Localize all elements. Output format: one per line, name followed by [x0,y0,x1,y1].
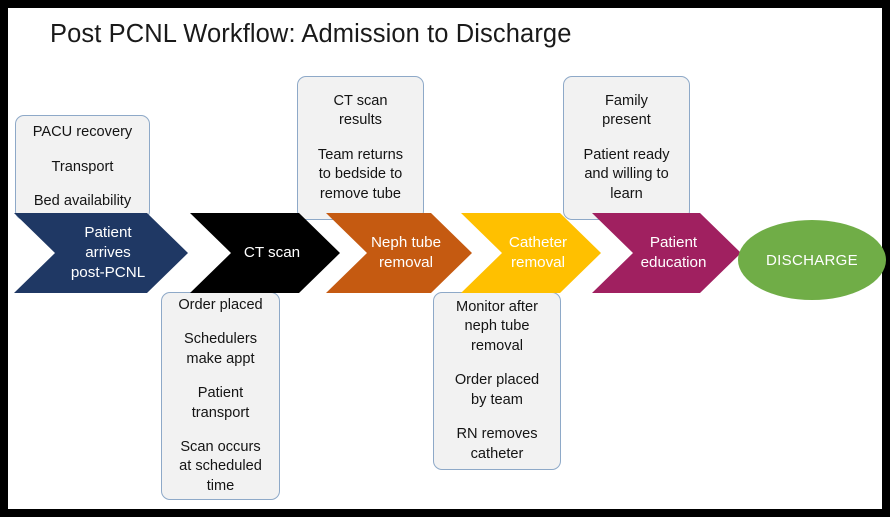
process-step-patient-arrives[interactable]: Patient arrives post-PCNL [14,213,188,293]
process-step-neph-tube-removal[interactable]: Neph tube removal [326,213,472,293]
callout-item: RN removes catheter [452,423,541,466]
diagram-frame: Post PCNL Workflow: Admission to Dischar… [0,0,890,517]
callout-item: Scan occurs at scheduled time [175,436,266,498]
callout-item: Patient transport [188,382,254,425]
callout-item: Order placed by team [451,369,543,412]
callout-item: Monitor after neph tube removal [452,296,542,358]
page-title: Post PCNL Workflow: Admission to Dischar… [50,20,571,49]
callout-box-step-1: PACU recovery Transport Bed availability [15,115,150,220]
callout-item: Team returns to bedside to remove tube [314,144,407,206]
callout-box-step-2: Order placed Schedulers make appt Patien… [161,292,280,500]
callout-item: Order placed [174,294,266,317]
process-step-label: Neph tube removal [357,233,441,273]
process-step-catheter-removal[interactable]: Catheter removal [461,213,601,293]
process-step-ct-scan[interactable]: CT scan [190,213,340,293]
discharge-node[interactable]: DISCHARGE [738,220,886,300]
process-step-label: CT scan [230,243,300,263]
callout-item: Schedulers make appt [180,328,261,371]
process-step-patient-education[interactable]: Patient education [592,213,741,293]
callout-box-step-4: Monitor after neph tube removal Order pl… [433,292,561,470]
callout-item: Patient ready and willing to learn [580,144,674,206]
discharge-label: DISCHARGE [766,252,858,269]
process-step-label: Patient arrives post-PCNL [57,223,145,282]
diagram-canvas: Post PCNL Workflow: Admission to Dischar… [8,8,882,509]
process-step-label: Patient education [627,233,707,273]
callout-box-step-3: CT scan results Team returns to bedside … [297,76,424,220]
callout-box-step-5: Family present Patient ready and willing… [563,76,690,220]
callout-item: CT scan results [329,90,391,133]
callout-item: Transport [48,156,118,179]
callout-item: Family present [598,90,655,133]
callout-item: Bed availability [30,190,135,213]
process-step-label: Catheter removal [495,233,567,273]
callout-item: PACU recovery [29,121,136,144]
